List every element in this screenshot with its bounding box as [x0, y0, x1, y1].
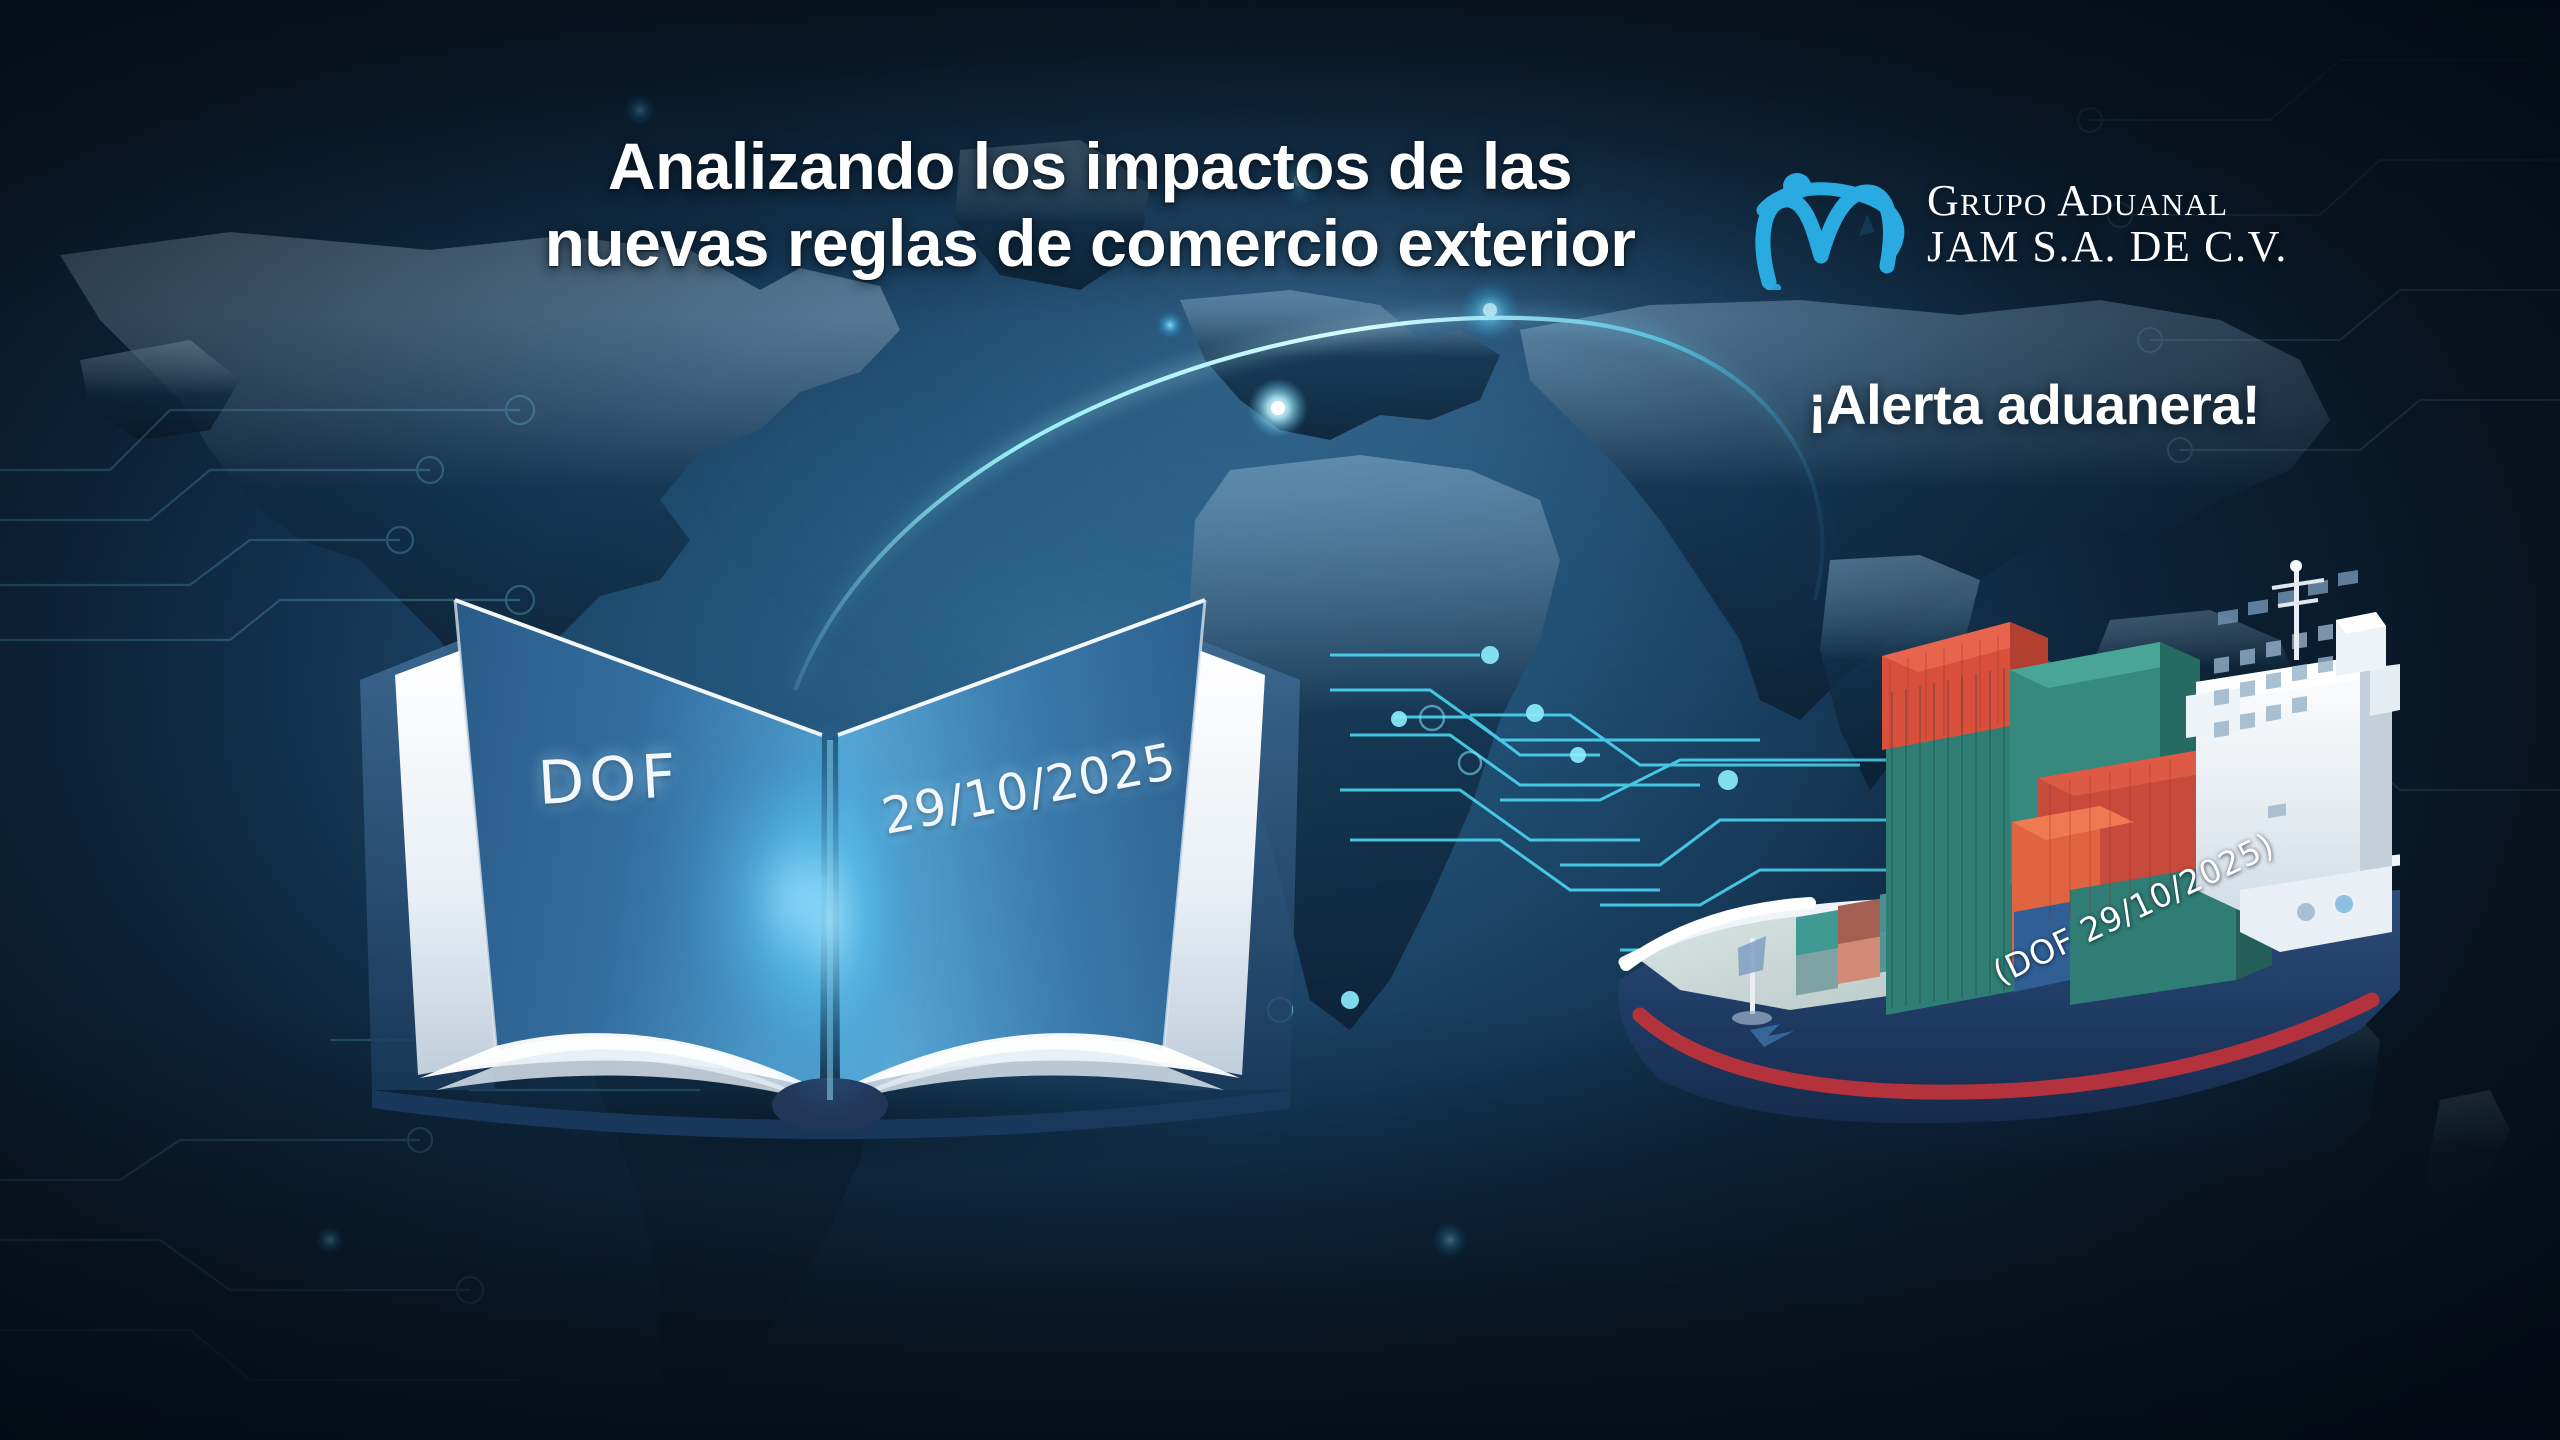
- alert-banner-text: ¡Alerta aduanera!: [1808, 372, 2260, 437]
- book-svg: [300, 490, 1360, 1170]
- ship-svg: [1600, 560, 2400, 1180]
- grupo-aduanal-jam-monogram-icon: [1755, 170, 1915, 290]
- brand-logo[interactable]: Grupo Aduanal JAM S.A. DE C.V.: [1755, 168, 2315, 288]
- open-book-illustration: [300, 490, 1360, 1170]
- brand-name-line-1: Grupo Aduanal: [1927, 176, 2228, 225]
- headline-line-2: nuevas reglas de comercio exterior: [430, 205, 1750, 282]
- brand-name: Grupo Aduanal JAM S.A. DE C.V.: [1927, 178, 2317, 270]
- container-ship-illustration: [1600, 560, 2400, 1180]
- headline-line-1: Analizando los impactos de las: [430, 128, 1750, 205]
- page-title: Analizando los impactos de las nuevas re…: [430, 128, 1750, 282]
- promotional-banner: DOF 29/10/2025: [0, 0, 2560, 1440]
- book-left-page-label: DOF: [536, 741, 683, 819]
- brand-name-line-2: JAM S.A. DE C.V.: [1927, 224, 2317, 270]
